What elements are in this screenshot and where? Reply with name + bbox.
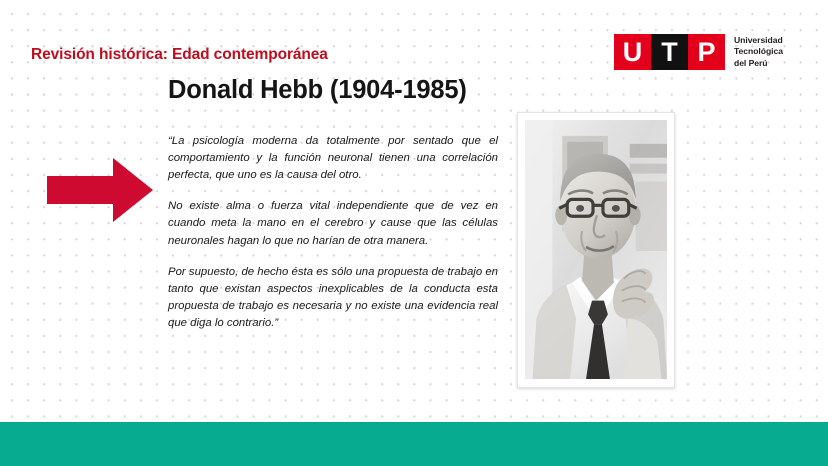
utp-wordmark-line-3: del Perú — [734, 58, 783, 69]
portrait-photo — [525, 120, 667, 379]
utp-logo-blocks: U T P — [614, 34, 725, 70]
utp-logo: U T P Universidad Tecnológica del Perú — [614, 34, 783, 70]
bottom-accent-band — [0, 422, 828, 466]
utp-letter-t: T — [651, 34, 688, 70]
portrait-frame — [517, 112, 675, 388]
slide-canvas: Revisión histórica: Edad contemporánea U… — [0, 0, 828, 466]
quote-paragraph: Por supuesto, de hecho ésta es sólo una … — [168, 264, 498, 332]
page-title: Donald Hebb (1904-1985) — [168, 76, 467, 105]
edge-mask-left — [0, 0, 3, 466]
section-title: Revisión histórica: Edad contemporánea — [31, 46, 328, 64]
quote-block: “La psicología moderna da totalmente por… — [168, 133, 498, 332]
edge-mask-top — [0, 0, 828, 4]
utp-wordmark-line-1: Universidad — [734, 35, 783, 46]
utp-letter-p: P — [688, 34, 725, 70]
quote-paragraph: “La psicología moderna da totalmente por… — [168, 133, 498, 184]
utp-wordmark-line-2: Tecnológica — [734, 46, 783, 57]
utp-logo-wordmark: Universidad Tecnológica del Perú — [734, 35, 783, 69]
quote-paragraph: No existe alma o fuerza vital independie… — [168, 198, 498, 249]
right-arrow-icon — [47, 158, 153, 222]
utp-letter-u: U — [614, 34, 651, 70]
